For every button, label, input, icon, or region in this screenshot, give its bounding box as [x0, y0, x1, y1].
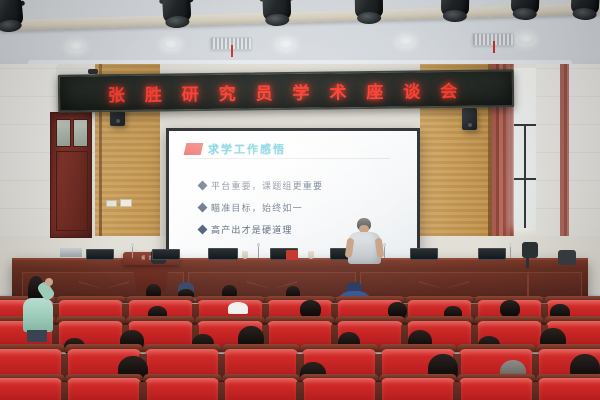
- slide-bullet-text: 瞄准目标，始终如一: [211, 201, 303, 214]
- stage-spotlight-icon: [259, 0, 294, 33]
- cup-icon: [242, 251, 248, 259]
- slide-title: 求学工作感悟: [208, 141, 286, 157]
- slide-bullet-item: 瞄准目标，始终如一: [199, 201, 323, 214]
- air-vent-icon: [210, 37, 252, 50]
- stage-spotlight-icon: [0, 0, 28, 39]
- slide-bullet-text: 平台重要，课题组更重要: [211, 179, 323, 192]
- seat[interactable]: [143, 374, 222, 400]
- red-box-item: [286, 250, 298, 260]
- microphone-icon: [510, 246, 511, 258]
- stage-spotlight-icon: [507, 0, 542, 27]
- ceiling-downlight-icon: [518, 35, 534, 44]
- attendee-hand: [45, 278, 53, 286]
- led-banner: 张 胜 研 究 员 学 术 座 谈 会: [58, 69, 514, 113]
- audience-white-cap-icon: [228, 302, 248, 314]
- standing-attendee: [18, 276, 58, 338]
- stage-spotlight-icon: [567, 0, 600, 27]
- wall-socket-icon: [106, 200, 117, 207]
- security-camera-icon: [88, 69, 98, 74]
- lecture-hall-photo: EXIT 张 胜 研 究 员 学 术 座 谈 会: [0, 0, 600, 400]
- window-curtain[interactable]: [560, 64, 569, 236]
- stage-spotlight-icon: [438, 0, 473, 28]
- ceiling-downlight-icon: [163, 40, 179, 49]
- diamond-bullet-icon: [198, 181, 208, 191]
- slide-accent-shape: [184, 143, 204, 155]
- seat[interactable]: [65, 374, 144, 400]
- monitor-icon: [208, 248, 238, 260]
- air-vent-icon: [472, 33, 514, 46]
- stage-spotlight-icon: [159, 0, 195, 35]
- slide-bullet-item: 高产出才是硬道理: [199, 223, 323, 236]
- microphone-icon: [258, 246, 259, 258]
- seat[interactable]: [300, 374, 379, 400]
- seat-row[interactable]: [0, 374, 600, 400]
- attendee-top: [23, 298, 53, 332]
- cup-icon: [308, 251, 314, 259]
- wall-speaker-icon: [462, 108, 477, 130]
- laptop-icon: [60, 248, 82, 257]
- monitor-icon: [410, 248, 438, 260]
- microphone-icon: [132, 246, 133, 258]
- ceiling: [0, 0, 600, 72]
- seat[interactable]: [536, 374, 600, 400]
- ceiling-downlight-icon: [278, 40, 294, 49]
- wall-switch-icon: [120, 199, 132, 207]
- window: [514, 68, 536, 228]
- diamond-bullet-icon: [198, 225, 208, 235]
- ceiling-downlight-icon: [398, 37, 414, 46]
- seat[interactable]: [457, 374, 536, 400]
- monitor-icon: [152, 249, 180, 260]
- presenter: [344, 218, 386, 264]
- seat[interactable]: [0, 374, 65, 400]
- diamond-bullet-icon: [198, 203, 208, 213]
- monitor-icon: [86, 249, 114, 260]
- led-banner-text: 张 胜 研 究 员 学 术 座 谈 会: [108, 76, 465, 105]
- slide-bullet-list: 平台重要，课题组更重要 瞄准目标，始终如一 高产出才是硬道理: [199, 179, 323, 245]
- presenter-arm: [375, 238, 385, 259]
- slide-divider: [185, 158, 390, 159]
- slide-bullet-item: 平台重要，课题组更重要: [199, 179, 323, 192]
- seat[interactable]: [222, 374, 301, 400]
- stage-spotlight-icon: [352, 0, 387, 30]
- slide-bullet-text: 高产出才是硬道理: [211, 223, 293, 236]
- ceiling-downlight-icon: [68, 42, 84, 51]
- left-door[interactable]: [50, 112, 92, 238]
- monitor-icon: [478, 248, 506, 260]
- desk-equipment-row: [12, 246, 588, 262]
- seat[interactable]: [379, 374, 458, 400]
